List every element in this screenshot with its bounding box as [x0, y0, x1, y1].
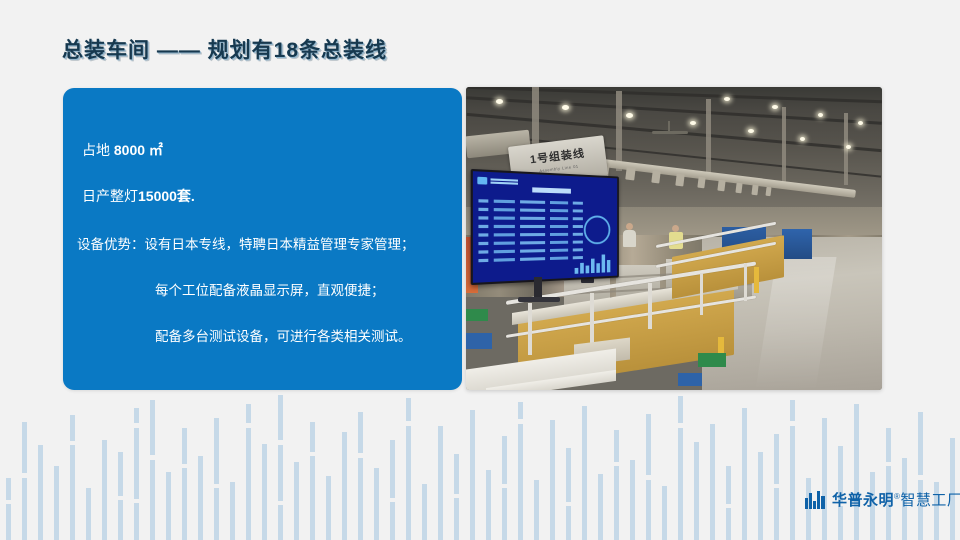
barcode-bar	[390, 440, 395, 540]
barcode-bar-gap	[406, 421, 411, 426]
barcode-bar-gap	[246, 423, 251, 428]
brand-logo-text: 华普永明®智慧工厂	[832, 493, 960, 508]
ceiling-lamp-icon	[626, 113, 633, 118]
barcode-bar-gap	[678, 423, 683, 428]
monitor-logo-text	[491, 178, 518, 185]
barcode-bar	[518, 402, 523, 540]
barcode-bar	[278, 395, 283, 540]
barcode-bar	[246, 404, 251, 540]
conveyor-hanger	[675, 174, 684, 187]
barcode-bar	[166, 472, 171, 540]
ceiling-lamp-icon	[858, 121, 863, 125]
brand-suffix: 智慧工厂	[900, 492, 960, 509]
photo-worker-head	[672, 225, 679, 232]
barcode-bar	[822, 418, 827, 540]
barcode-bar	[678, 396, 683, 540]
photo-blue-equipment	[782, 229, 812, 259]
barcode-bar-gap	[886, 462, 891, 466]
barcode-bar	[742, 408, 747, 540]
barcode-bar	[854, 404, 859, 540]
barcode-bar	[406, 398, 411, 540]
barcode-bar	[454, 454, 459, 540]
photo-worker-head	[626, 223, 633, 230]
monitor-table-row	[478, 208, 582, 213]
barcode-bar-gap	[150, 455, 155, 460]
barcode-bar	[886, 428, 891, 540]
barcode-bar-gap	[118, 496, 123, 500]
assembly-line-sign-subtext: Assembly Line 01	[539, 163, 579, 173]
info-line-output-prefix: 日产整灯	[82, 188, 138, 204]
barcode-bar	[646, 414, 651, 540]
railing-post	[648, 283, 652, 329]
barcode-bar	[38, 445, 43, 540]
barcode-bar-gap	[614, 462, 619, 466]
barcode-bar-gap	[774, 484, 779, 488]
barcode-bar	[22, 422, 27, 540]
barcode-bar-gap	[278, 501, 283, 505]
conveyor-hanger	[735, 183, 742, 194]
blue-parts-bin	[678, 373, 702, 386]
yellow-bollard	[754, 267, 759, 293]
conveyor-hanger	[625, 167, 636, 181]
ceiling-lamp-icon	[690, 121, 696, 125]
green-parts-bin	[698, 353, 726, 367]
barcode-bar	[486, 470, 491, 540]
barcode-bar	[790, 400, 795, 540]
monitor-gauge-chart	[584, 215, 611, 244]
ceiling-lamp-icon	[724, 97, 730, 101]
barcode-bar	[726, 466, 731, 540]
barcode-bar	[598, 474, 603, 540]
barcode-bar	[358, 412, 363, 540]
barcode-bar	[6, 478, 11, 540]
barcode-bar	[70, 415, 75, 540]
monitor-table-row	[478, 256, 582, 262]
barcode-bar	[550, 420, 555, 540]
barcode-bar-gap	[214, 484, 219, 488]
barcode-bar	[262, 444, 267, 540]
photo-worker-body	[623, 230, 636, 247]
barcode-bar	[86, 488, 91, 540]
monitor-title-bar	[532, 187, 571, 193]
barcode-bar-gap	[182, 464, 187, 468]
info-line-area-prefix: 占地	[82, 142, 114, 158]
info-line-area: 占地 8000 ㎡	[82, 143, 163, 157]
barcode-bar	[918, 412, 923, 540]
barcode-bar	[294, 462, 299, 540]
photo-roof-column	[616, 91, 622, 171]
info-line-output: 日产整灯15000套.	[82, 189, 195, 203]
ceiling-lamp-icon	[846, 145, 851, 149]
barcode-bar	[102, 440, 107, 540]
barcode-bar-gap	[134, 423, 139, 428]
monitor-data-table	[478, 199, 582, 265]
railing-post	[700, 273, 703, 315]
barcode-bar	[710, 424, 715, 540]
green-parts-bin	[466, 309, 488, 321]
barcode-bar-gap	[310, 452, 315, 456]
barcode-bar	[662, 486, 667, 540]
barcode-bar-gap	[646, 475, 651, 480]
ceiling-lamp-icon	[800, 137, 805, 141]
brand-name: 华普永明	[832, 492, 894, 509]
barcode-bar	[182, 428, 187, 540]
brand-logo-icon	[805, 491, 826, 509]
ceiling-lamp-icon	[818, 113, 823, 117]
info-line-advantage-2: 每个工位配备液晶显示屏，直观便捷；	[155, 284, 385, 298]
barcode-bar	[230, 482, 235, 540]
photo-roof-column	[844, 113, 848, 185]
barcode-bar	[630, 460, 635, 540]
barcode-bar	[470, 410, 475, 540]
barcode-bar	[502, 436, 507, 540]
conveyor-hanger	[697, 177, 705, 189]
monitor-table-row	[478, 216, 582, 220]
monitor-table-row	[478, 199, 582, 205]
barcode-bar-gap	[918, 475, 923, 480]
barcode-bar	[438, 426, 443, 540]
barcode-bar	[118, 452, 123, 540]
conveyor-hanger	[751, 185, 758, 196]
monitor-stand	[534, 277, 542, 299]
monitor-table-row	[478, 233, 582, 237]
barcode-bar	[310, 422, 315, 540]
ceiling-lamp-icon	[772, 105, 778, 109]
info-line-advantage-3: 配备多台测试设备，可进行各类相关测试。	[155, 330, 412, 344]
info-line-area-value: 8000 ㎡	[114, 142, 163, 158]
photo-roof-column	[706, 99, 711, 179]
railing-post	[744, 263, 747, 301]
barcode-bar	[566, 448, 571, 540]
barcode-bar	[134, 408, 139, 540]
barcode-bar-gap	[70, 441, 75, 445]
ceiling-fan-icon	[652, 131, 688, 134]
conveyor-hanger	[651, 171, 660, 184]
barcode-bar	[326, 476, 331, 540]
monitor-stand-base	[518, 297, 560, 302]
monitor-logo-icon	[477, 177, 487, 185]
slide-canvas: 总装车间 —— 规划有18条总装线 占地 8000 ㎡ 日产整灯15000套. …	[0, 0, 960, 540]
barcode-bar	[694, 442, 699, 540]
monitor-table-row	[478, 248, 582, 253]
ceiling-lamp-icon	[496, 99, 503, 104]
barcode-bar-gap	[278, 440, 283, 445]
barcode-bar-gap	[358, 453, 363, 458]
ceiling-fan-pole	[668, 121, 670, 133]
monitor-table-row	[478, 241, 582, 246]
barcode-bar-gap	[726, 504, 731, 508]
barcode-bar	[774, 434, 779, 540]
barcode-bar	[342, 432, 347, 540]
brand-logo: 华普永明®智慧工厂	[805, 489, 960, 511]
barcode-bar-gap	[790, 421, 795, 426]
railing-post	[590, 293, 594, 343]
monitor-bar-chart	[575, 251, 612, 273]
railing-post	[528, 303, 532, 355]
conveyor-hanger	[717, 180, 725, 192]
barcode-bar	[214, 418, 219, 540]
photo-roof-column	[782, 107, 786, 183]
barcode-bar	[614, 430, 619, 540]
info-panel: 占地 8000 ㎡ 日产整灯15000套. 设备优势：设有日本专线，特聘日本精益…	[63, 88, 462, 390]
info-line-output-value: 15000套.	[138, 188, 195, 204]
page-title: 总装车间 —— 规划有18条总装线	[62, 34, 387, 64]
barcode-bar-gap	[502, 484, 507, 488]
barcode-bar	[374, 468, 379, 540]
barcode-bar-gap	[134, 499, 139, 503]
barcode-bar	[150, 400, 155, 540]
conveyor-hanger	[765, 187, 771, 197]
info-line-advantage-1: 设备优势：设有日本专线，特聘日本精益管理专家管理；	[77, 238, 415, 252]
barcode-decoration	[0, 395, 960, 540]
barcode-bar	[422, 484, 427, 540]
barcode-bar	[758, 452, 763, 540]
ceiling-lamp-icon	[562, 105, 569, 110]
barcode-bar-gap	[390, 498, 395, 502]
barcode-bar-gap	[454, 494, 459, 498]
monitor-table-row	[478, 225, 582, 228]
barcode-bar-gap	[22, 473, 27, 478]
workshop-photo: 1号组装线 Assembly Line 01	[466, 87, 882, 390]
barcode-bar	[54, 466, 59, 540]
barcode-bar-gap	[566, 502, 571, 506]
ceiling-lamp-icon	[748, 129, 754, 133]
barcode-bar-gap	[518, 419, 523, 424]
barcode-bar	[582, 406, 587, 540]
production-dashboard-monitor	[471, 169, 619, 285]
barcode-bar	[198, 456, 203, 540]
barcode-bar-gap	[6, 500, 11, 504]
barcode-bar	[534, 480, 539, 540]
blue-parts-bin	[466, 333, 492, 349]
